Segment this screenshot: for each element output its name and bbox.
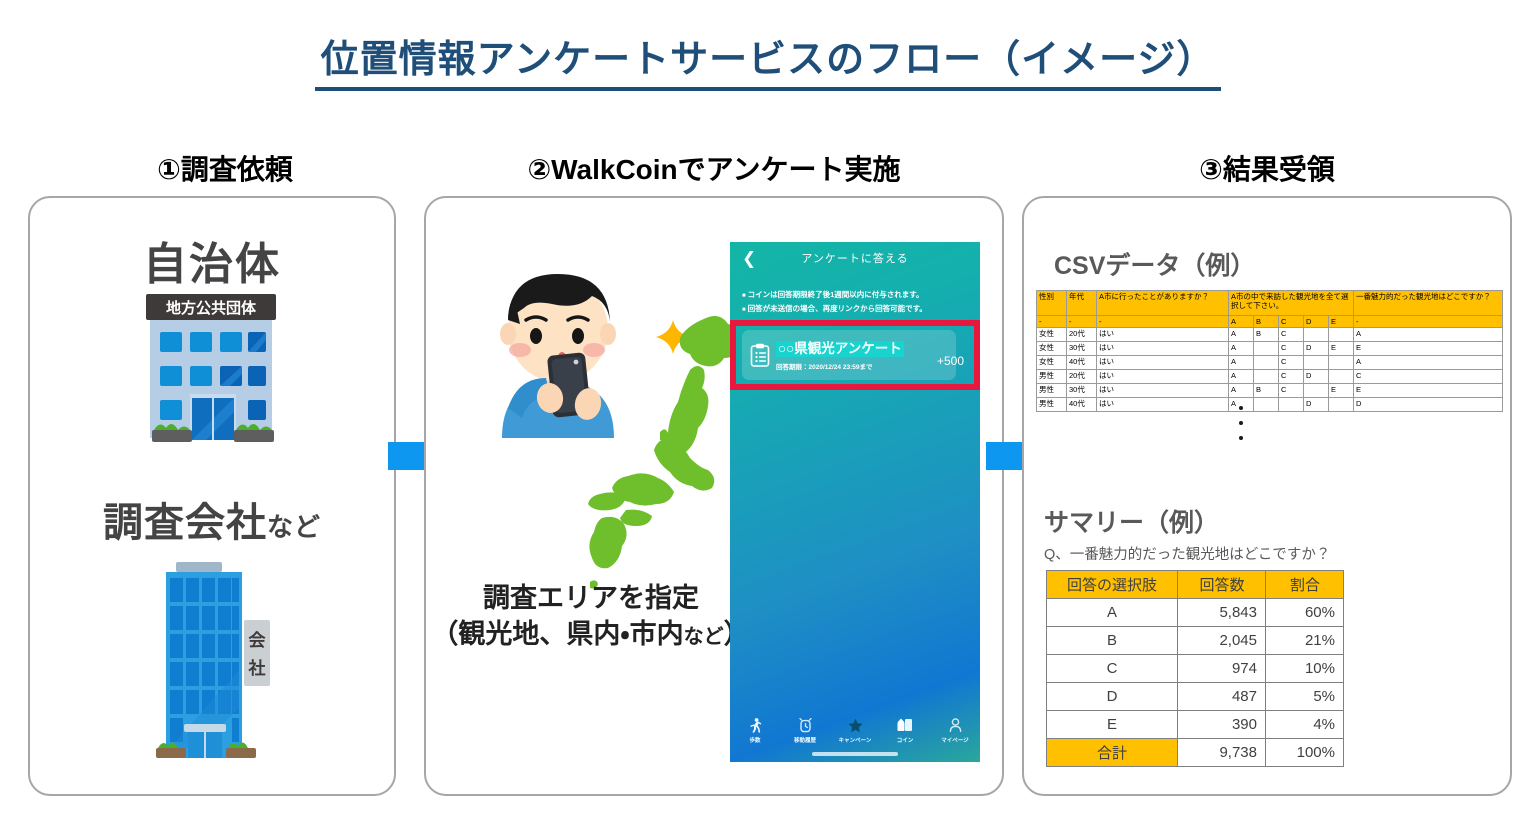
ellipsis-dot	[1239, 406, 1243, 410]
summary-total-label: 合計	[1047, 739, 1178, 767]
csv-cell: D	[1354, 398, 1503, 412]
csv-cell: C	[1279, 356, 1304, 370]
csv-header-row: 性別 年代 A市に行ったことがありますか？ A市の中で来訪した観光地を全て選択し…	[1037, 291, 1503, 316]
nav-label-mypage: マイページ	[941, 736, 968, 744]
csv-cell	[1329, 328, 1354, 342]
nav-item-coin[interactable]: コイン	[882, 717, 928, 744]
nav-item-mypage[interactable]: マイページ	[932, 717, 978, 744]
nav-label-campaign: キャンペーン	[839, 736, 872, 744]
csv-cell: C	[1279, 370, 1304, 384]
nav-label-steps: 歩数	[749, 736, 760, 744]
survey-card-title: ○○県観光アンケート	[776, 341, 904, 358]
vertical-ellipsis-icon	[1239, 406, 1243, 440]
summary-cell-option: C	[1047, 655, 1178, 683]
company-building-illustration: 会 社	[140, 558, 286, 774]
csv-header-cell: 一番魅力的だった観光地はどこですか？	[1354, 291, 1503, 316]
panel-survey-request: 自治体 地方公共団体 調査会社など	[28, 196, 396, 796]
summary-cell-option: A	[1047, 599, 1178, 627]
csv-cell	[1329, 356, 1354, 370]
csv-cell	[1254, 356, 1279, 370]
person-icon	[949, 717, 962, 733]
csv-subheader-row: - - - A B C D E -	[1037, 316, 1503, 328]
research-company-suffix: など	[267, 512, 321, 542]
csv-cell: A	[1354, 328, 1503, 342]
csv-cell: 男性	[1037, 370, 1067, 384]
survey-card-deadline: 回答期限：2020/12/24 23:59まで	[776, 361, 948, 371]
csv-cell: 男性	[1037, 398, 1067, 412]
csv-cell: 30代	[1067, 342, 1097, 356]
panel-results-delivery: CSVデータ（例） 性別 年代 A市に行ったことがありますか？ A市の中で来訪し…	[1022, 196, 1512, 796]
table-row: B 2,045 21%	[1047, 627, 1344, 655]
csv-cell: A	[1229, 356, 1254, 370]
summary-table: 回答の選択肢 回答数 割合 A 5,843 60% B 2,045 21% C …	[1046, 570, 1344, 767]
svg-text:会: 会	[249, 630, 267, 650]
summary-cell-count: 390	[1178, 711, 1266, 739]
csv-cell: B	[1254, 328, 1279, 342]
csv-subheader-cell: -	[1037, 316, 1067, 328]
csv-subheader-cell: B	[1254, 316, 1279, 328]
app-notice-line-2: ■回答が未送信の場合、再度リンクから回答可能です。	[742, 302, 970, 316]
survey-list-item[interactable]: ○○県観光アンケート 回答期限：2020/12/24 23:59まで +500	[742, 330, 956, 380]
csv-cell: C	[1279, 342, 1304, 356]
csv-cell: 女性	[1037, 328, 1067, 342]
csv-cell	[1254, 342, 1279, 356]
history-clock-icon	[799, 717, 812, 733]
summary-total-row: 合計 9,738 100%	[1047, 739, 1344, 767]
csv-cell	[1304, 328, 1329, 342]
survey-area-caption-line1: 調査エリアを指定	[426, 580, 756, 616]
csv-subheader-cell: -	[1354, 316, 1503, 328]
csv-cell: C	[1354, 370, 1503, 384]
summary-cell-share: 60%	[1266, 599, 1344, 627]
csv-cell: A	[1229, 384, 1254, 398]
clipboard-icon	[750, 343, 770, 367]
summary-header-count: 回答数	[1178, 571, 1266, 599]
table-row: D 487 5%	[1047, 683, 1344, 711]
nav-item-history[interactable]: 移動履歴	[782, 717, 828, 744]
csv-cell: B	[1254, 384, 1279, 398]
csv-cell: 40代	[1067, 398, 1097, 412]
csv-subheader-cell: A	[1229, 316, 1254, 328]
summary-cell-share: 10%	[1266, 655, 1344, 683]
ellipsis-dot	[1239, 421, 1243, 425]
table-row: A 5,843 60%	[1047, 599, 1344, 627]
table-row: 男性 30代 はい A B C E E	[1037, 384, 1503, 398]
bullet-icon: ■	[742, 293, 746, 299]
research-company-text: 調査会社	[103, 501, 267, 545]
csv-cell: 女性	[1037, 342, 1067, 356]
ellipsis-dot	[1239, 436, 1243, 440]
csv-cell: E	[1329, 384, 1354, 398]
summary-question: Q、一番魅力的だった観光地はどこですか？	[1044, 543, 1330, 564]
caption-part-a: （観光地、県内・市内	[431, 619, 683, 649]
walk-icon	[749, 717, 762, 733]
app-notice-line-1: ■コインは回答期限終了後1週間以内に付与されます。	[742, 288, 970, 302]
panel-walkcoin-survey: 調査エリアを指定 （観光地、県内・市内など） ❮ アンケートに答える ■コインは…	[424, 196, 1004, 796]
survey-card-coin-reward: +500	[937, 354, 964, 368]
summary-total-share: 100%	[1266, 739, 1344, 767]
csv-cell: D	[1304, 370, 1329, 384]
summary-header-share: 割合	[1266, 571, 1344, 599]
csv-header-cell: 性別	[1037, 291, 1067, 316]
csv-cell: 30代	[1067, 384, 1097, 398]
summary-cell-share: 4%	[1266, 711, 1344, 739]
coin-icon	[897, 717, 913, 733]
csv-cell: 男性	[1037, 384, 1067, 398]
csv-header-cell: A市の中で来訪した観光地を全て選択して下さい。	[1229, 291, 1354, 316]
csv-cell: 女性	[1037, 356, 1067, 370]
csv-subheader-cell: -	[1067, 316, 1097, 328]
csv-cell: 20代	[1067, 328, 1097, 342]
csv-header-cell: A市に行ったことがありますか？	[1097, 291, 1229, 316]
survey-area-caption: 調査エリアを指定 （観光地、県内・市内など）	[426, 580, 756, 653]
column-heading-2: ②WalkCoinでアンケート実施	[424, 148, 1004, 188]
summary-cell-count: 5,843	[1178, 599, 1266, 627]
csv-subheader-cell: C	[1279, 316, 1304, 328]
summary-cell-count: 2,045	[1178, 627, 1266, 655]
csv-cell: はい	[1097, 356, 1229, 370]
summary-header-row: 回答の選択肢 回答数 割合	[1047, 571, 1344, 599]
survey-area-caption-line2: （観光地、県内・市内など）	[426, 616, 756, 652]
csv-cell: 20代	[1067, 370, 1097, 384]
csv-subheader-cell: -	[1097, 316, 1229, 328]
bullet-icon: ■	[742, 307, 746, 313]
csv-cell	[1304, 356, 1329, 370]
table-row: C 974 10%	[1047, 655, 1344, 683]
local-government-label: 自治体	[30, 228, 394, 292]
csv-cell	[1254, 398, 1279, 412]
star-icon	[848, 717, 863, 733]
column-heading-3: ③結果受領	[1022, 148, 1512, 188]
caption-part-small: など	[684, 626, 724, 648]
app-header-title: アンケートに答える	[801, 250, 908, 266]
csv-cell: 40代	[1067, 356, 1097, 370]
csv-cell: E	[1354, 384, 1503, 398]
table-row: 男性 40代 はい A D D	[1037, 398, 1503, 412]
csv-cell: はい	[1097, 384, 1229, 398]
csv-cell: A	[1354, 356, 1503, 370]
app-notice-list: ■コインは回答期限終了後1週間以内に付与されます。 ■回答が未送信の場合、再度リ…	[730, 274, 980, 315]
csv-data-table: 性別 年代 A市に行ったことがありますか？ A市の中で来訪した観光地を全て選択し…	[1036, 290, 1503, 412]
summary-cell-count: 487	[1178, 683, 1266, 711]
csv-cell: はい	[1097, 370, 1229, 384]
csv-cell	[1279, 398, 1304, 412]
table-row: 女性 30代 はい A C D E E	[1037, 342, 1503, 356]
csv-cell: A	[1229, 370, 1254, 384]
home-indicator	[812, 752, 898, 756]
csv-cell: A	[1229, 342, 1254, 356]
smartphone-app-screen: ❮ アンケートに答える ■コインは回答期限終了後1週間以内に付与されます。 ■回…	[730, 242, 980, 762]
survey-card-texts: ○○県観光アンケート 回答期限：2020/12/24 23:59まで	[776, 340, 948, 371]
table-row: 女性 20代 はい A B C A	[1037, 328, 1503, 342]
csv-cell	[1304, 384, 1329, 398]
csv-cell: E	[1354, 342, 1503, 356]
csv-cell	[1254, 370, 1279, 384]
svg-text:社: 社	[248, 658, 266, 678]
research-company-label: 調査会社など	[30, 490, 394, 548]
csv-section-title: CSVデータ（例）	[1054, 246, 1255, 282]
page-title-container: 位置情報アンケートサービスのフロー（イメージ）	[0, 28, 1536, 91]
csv-subheader-cell: E	[1329, 316, 1354, 328]
csv-subheader-cell: D	[1304, 316, 1329, 328]
nav-item-steps[interactable]: 歩数	[732, 717, 778, 744]
table-row: E 390 4%	[1047, 711, 1344, 739]
csv-cell: D	[1304, 398, 1329, 412]
summary-cell-count: 974	[1178, 655, 1266, 683]
csv-cell: はい	[1097, 398, 1229, 412]
column-heading-1: ①調査依頼	[30, 148, 420, 188]
app-header: ❮ アンケートに答える	[730, 242, 980, 274]
summary-header-option: 回答の選択肢	[1047, 571, 1178, 599]
summary-cell-share: 21%	[1266, 627, 1344, 655]
csv-cell	[1329, 370, 1354, 384]
nav-item-campaign[interactable]: キャンペーン	[832, 717, 878, 744]
summary-cell-share: 5%	[1266, 683, 1344, 711]
csv-cell: はい	[1097, 342, 1229, 356]
nav-label-history: 移動履歴	[794, 736, 816, 744]
csv-cell: はい	[1097, 328, 1229, 342]
summary-section-title: サマリー（例）	[1044, 503, 1219, 539]
chevron-left-icon[interactable]: ❮	[742, 250, 756, 267]
table-row: 男性 20代 はい A C D C	[1037, 370, 1503, 384]
csv-cell: C	[1279, 328, 1304, 342]
svg-text:地方公共団体: 地方公共団体	[166, 299, 257, 317]
page-title: 位置情報アンケートサービスのフロー（イメージ）	[315, 28, 1222, 91]
summary-cell-option: D	[1047, 683, 1178, 711]
csv-cell: E	[1329, 342, 1354, 356]
csv-cell: A	[1229, 328, 1254, 342]
csv-cell	[1329, 398, 1354, 412]
table-row: 女性 40代 はい A C A	[1037, 356, 1503, 370]
csv-cell: D	[1304, 342, 1329, 356]
nav-label-coin: コイン	[897, 736, 914, 744]
summary-cell-option: B	[1047, 627, 1178, 655]
summary-cell-option: E	[1047, 711, 1178, 739]
app-bottom-nav: 歩数 移動履歴 キャンペーン	[730, 717, 980, 744]
csv-cell: C	[1279, 384, 1304, 398]
csv-header-cell: 年代	[1067, 291, 1097, 316]
summary-total-count: 9,738	[1178, 739, 1266, 767]
government-building-illustration: 地方公共団体	[136, 290, 286, 468]
